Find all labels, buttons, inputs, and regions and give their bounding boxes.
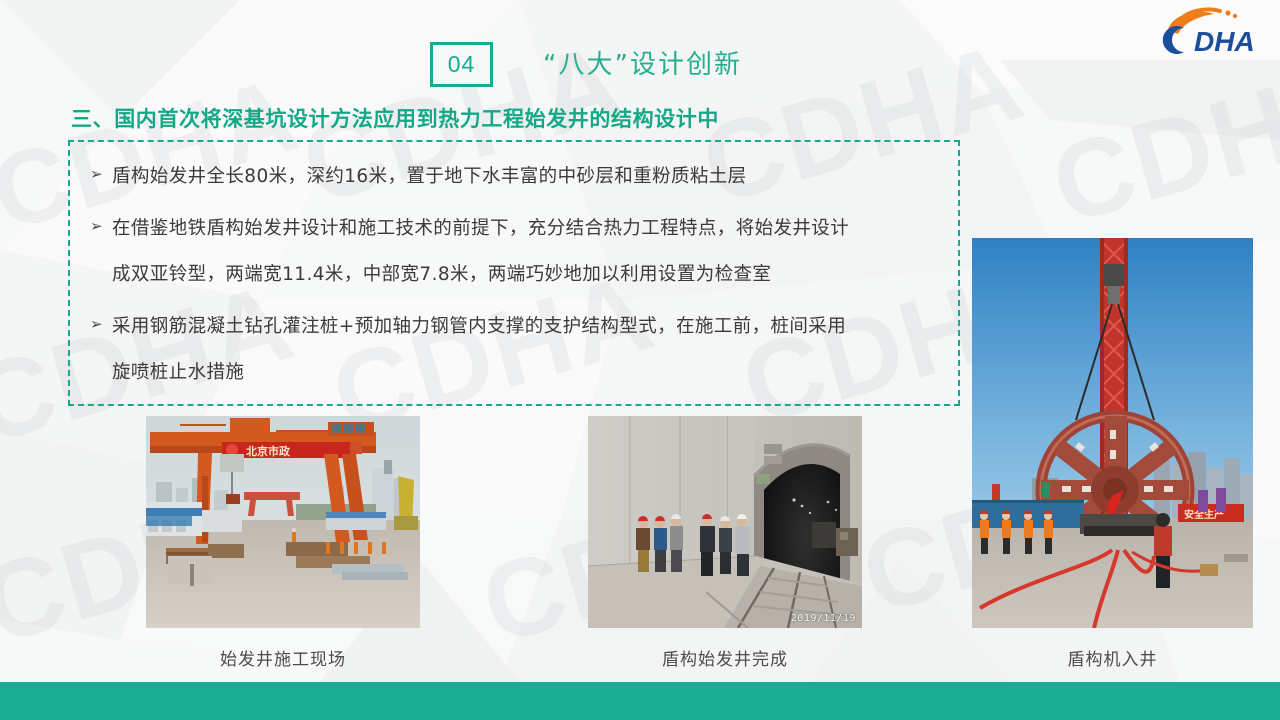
list-item: ➢ 盾构始发井全长80米，深约16米，置于地下水丰富的中砂层和重粉质粘土层 xyxy=(86,154,940,200)
slide: CDHA CDHA CDHA CDHA CDHA CDHA CDHA CDHA … xyxy=(0,0,1280,720)
photo-caption: 始发井施工现场 xyxy=(146,645,420,670)
bullet-arrow-icon: ➢ xyxy=(86,304,112,346)
bullet-line: 在借鉴地铁盾构始发井设计和施工技术的前提下，充分结合热力工程特点，将始发井设计 xyxy=(112,218,849,239)
bullet-text: 盾构始发井全长80米，深约16米，置于地下水丰富的中砂层和重粉质粘土层 xyxy=(112,154,940,200)
cdha-logo-icon: DHA xyxy=(1140,4,1272,64)
bullet-text: 在借鉴地铁盾构始发井设计和施工技术的前提下，充分结合热力工程特点，将始发井设计 … xyxy=(112,206,940,298)
footer-bar xyxy=(0,682,1280,720)
bullet-text: 采用钢筋混凝土钻孔灌注桩+预加轴力钢管内支撑的支护结构型式，在施工前，桩间采用 … xyxy=(112,304,940,396)
section-number: 04 xyxy=(448,51,476,78)
list-item: ➢ 采用钢筋混凝土钻孔灌注桩+预加轴力钢管内支撑的支护结构型式，在施工前，桩间采… xyxy=(86,304,940,396)
bullet-arrow-icon: ➢ xyxy=(86,154,112,196)
svg-text:北京市政: 北京市政 xyxy=(246,444,291,458)
page-title: “八大”设计创新 xyxy=(543,44,742,81)
bullet-line: 旋喷桩止水措施 xyxy=(112,350,940,396)
photo-2-image xyxy=(588,416,862,628)
list-item: ➢ 在借鉴地铁盾构始发井设计和施工技术的前提下，充分结合热力工程特点，将始发井设… xyxy=(86,206,940,298)
photo-timestamp: 2019/11/19 xyxy=(791,613,856,624)
photo-launch-shaft-construction-site: 北京市政 xyxy=(146,416,420,628)
section-heading: 三、国内首次将深基坑设计方法应用到热力工程始发井的结构设计中 xyxy=(71,103,719,133)
photo-3-image: 安全生产 xyxy=(972,238,1253,628)
bullet-line: 成双亚铃型，两端宽11.4米，中部宽7.8米，两端巧妙地加以利用设置为检查室 xyxy=(112,252,940,298)
bullet-list-box: ➢ 盾构始发井全长80米，深约16米，置于地下水丰富的中砂层和重粉质粘土层 ➢ … xyxy=(68,140,960,406)
photo-1-image: 北京市政 xyxy=(146,416,420,628)
svg-text:DHA: DHA xyxy=(1194,26,1255,57)
photo-caption: 盾构机入井 xyxy=(972,645,1253,670)
bullet-line: 采用钢筋混凝土钻孔灌注桩+预加轴力钢管内支撑的支护结构型式，在施工前，桩间采用 xyxy=(112,316,846,337)
photo-shield-launch-shaft-completed: 2019/11/19 xyxy=(588,416,862,628)
section-number-box: 04 xyxy=(430,42,493,87)
photo-tbm-lowering-into-shaft: 安全生产 xyxy=(972,238,1253,628)
cdha-logo: DHA xyxy=(1140,4,1272,64)
bullet-arrow-icon: ➢ xyxy=(86,206,112,248)
bullet-line: 盾构始发井全长80米，深约16米，置于地下水丰富的中砂层和重粉质粘土层 xyxy=(112,166,747,187)
photo-caption: 盾构始发井完成 xyxy=(588,645,862,670)
